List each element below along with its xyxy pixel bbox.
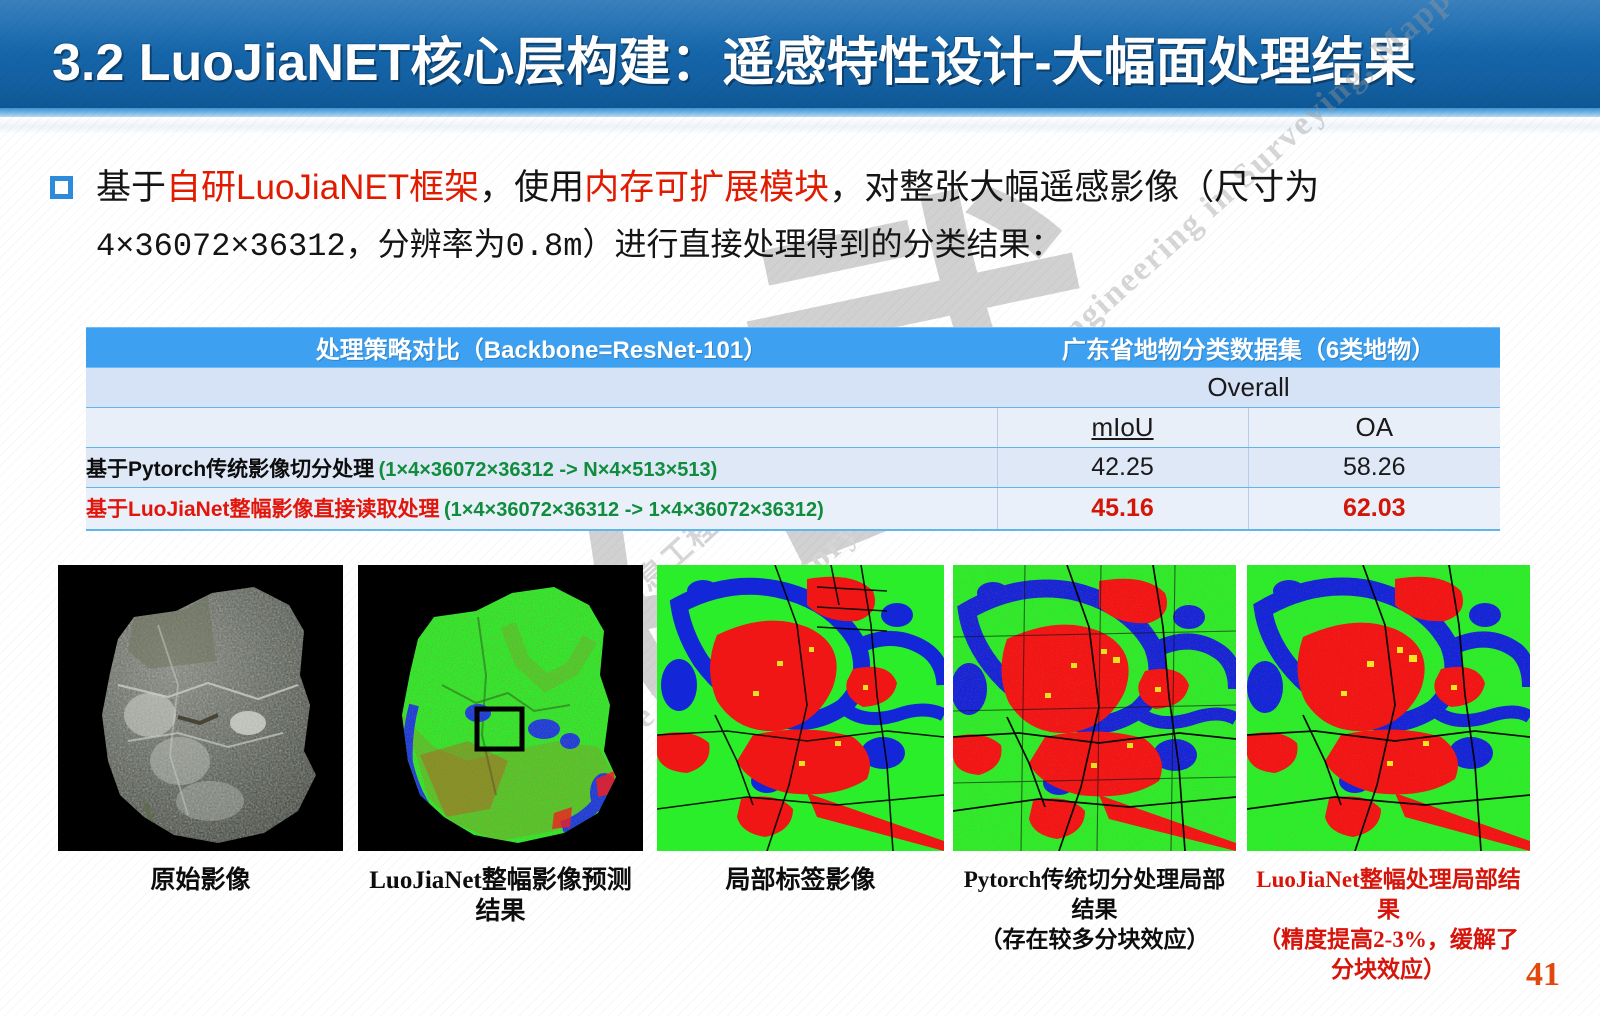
table-row-0-miou: 42.25 <box>997 448 1248 488</box>
table-metric-miou: mIoU <box>997 408 1248 448</box>
body-text-b: ，使用 <box>479 168 584 207</box>
table-row-1-oa: 62.03 <box>1248 488 1500 530</box>
figure-local-label-caption: 局部标签影像 <box>657 865 944 896</box>
table-group-label: Overall <box>997 368 1500 408</box>
slide-title-bar: 3.2 LuoJiaNET核心层构建：遥感特性设计-大幅面处理结果 <box>0 0 1600 108</box>
figure-luojianet-result-caption: LuoJiaNet整幅处理局部结果 （精度提高2-3%，缓解了分块效应） <box>1247 865 1530 985</box>
table-row-0-label: 基于Pytorch传统影像切分处理 (1×4×36072×36312 -> N×… <box>86 448 997 488</box>
body-text-red-2: 内存可扩展模块 <box>584 168 829 207</box>
original-image-canvas <box>58 565 343 851</box>
figure-pytorch-result: Pytorch传统切分处理局部结果 （存在较多分块效应） <box>953 565 1236 851</box>
table-metric-oa: OA <box>1248 408 1500 448</box>
local-label-canvas <box>657 565 944 851</box>
table-header-row: 处理策略对比（Backbone=ResNet-101） 广东省地物分类数据集（6… <box>86 328 1500 368</box>
full-prediction-canvas <box>358 565 643 851</box>
table-row-1-label: 基于LuoJiaNet整幅影像直接读取处理 (1×4×36072×36312 -… <box>86 488 997 530</box>
figure-local-label: 局部标签影像 <box>657 565 944 851</box>
body-text-a: 基于 <box>96 168 166 207</box>
table-metric-row: mIoU OA <box>86 408 1500 448</box>
table-row-1-miou: 45.16 <box>997 488 1248 530</box>
luojianet-result-canvas <box>1247 565 1530 851</box>
figure-full-prediction: LuoJiaNet整幅影像预测结果 <box>358 565 643 851</box>
body-paragraph: 基于自研LuoJiaNET框架，使用内存可扩展模块，对整张大幅遥感影像（尺寸为 … <box>96 160 1564 272</box>
square-outline-bullet-icon <box>50 176 73 199</box>
table-metric-row-blank <box>86 408 997 448</box>
table-group-row: Overall <box>86 368 1500 408</box>
body-bullet-block: 基于自研LuoJiaNET框架，使用内存可扩展模块，对整张大幅遥感影像（尺寸为 … <box>44 160 1564 272</box>
table-row-0-oa: 58.26 <box>1248 448 1500 488</box>
full-prediction-classification-map <box>358 565 643 851</box>
pytorch-result-canvas <box>953 565 1236 851</box>
table-header-left: 处理策略对比（Backbone=ResNet-101） <box>86 328 997 368</box>
page-number: 41 <box>1526 956 1560 994</box>
luojianet-result-classification-map <box>1247 565 1530 851</box>
page-title: 3.2 LuoJiaNET核心层构建：遥感特性设计-大幅面处理结果 <box>52 20 1416 95</box>
comparison-table: 处理策略对比（Backbone=ResNet-101） 广东省地物分类数据集（6… <box>86 327 1500 531</box>
table-header-right: 广东省地物分类数据集（6类地物） <box>997 328 1500 368</box>
title-underbar <box>0 108 1600 117</box>
figure-original-image: 原始影像 <box>58 565 343 851</box>
body-text-line2: 4×36072×36312，分辨率为0.8m）进行直接处理得到的分类结果： <box>96 228 1062 265</box>
figure-pytorch-result-caption: Pytorch传统切分处理局部结果 （存在较多分块效应） <box>953 865 1236 955</box>
title-glow-strip <box>0 117 1600 133</box>
table-group-row-blank <box>86 368 997 408</box>
figure-full-prediction-caption: LuoJiaNet整幅影像预测结果 <box>358 865 643 928</box>
figure-luojianet-result: LuoJiaNet整幅处理局部结果 （精度提高2-3%，缓解了分块效应） <box>1247 565 1530 851</box>
table-row: 基于Pytorch传统影像切分处理 (1×4×36072×36312 -> N×… <box>86 448 1500 488</box>
figure-strip: 原始影像 <box>0 565 1600 985</box>
body-text-red-1: 自研LuoJiaNET框架 <box>166 168 479 207</box>
table-row: 基于LuoJiaNet整幅影像直接读取处理 (1×4×36072×36312 -… <box>86 488 1500 530</box>
body-text-c: ，对整张大幅遥感影像（尺寸为 <box>829 168 1319 207</box>
local-label-classification-map <box>657 565 944 851</box>
pytorch-result-classification-map <box>953 565 1236 851</box>
figure-original-image-caption: 原始影像 <box>58 865 343 896</box>
original-satellite-image <box>58 565 343 851</box>
